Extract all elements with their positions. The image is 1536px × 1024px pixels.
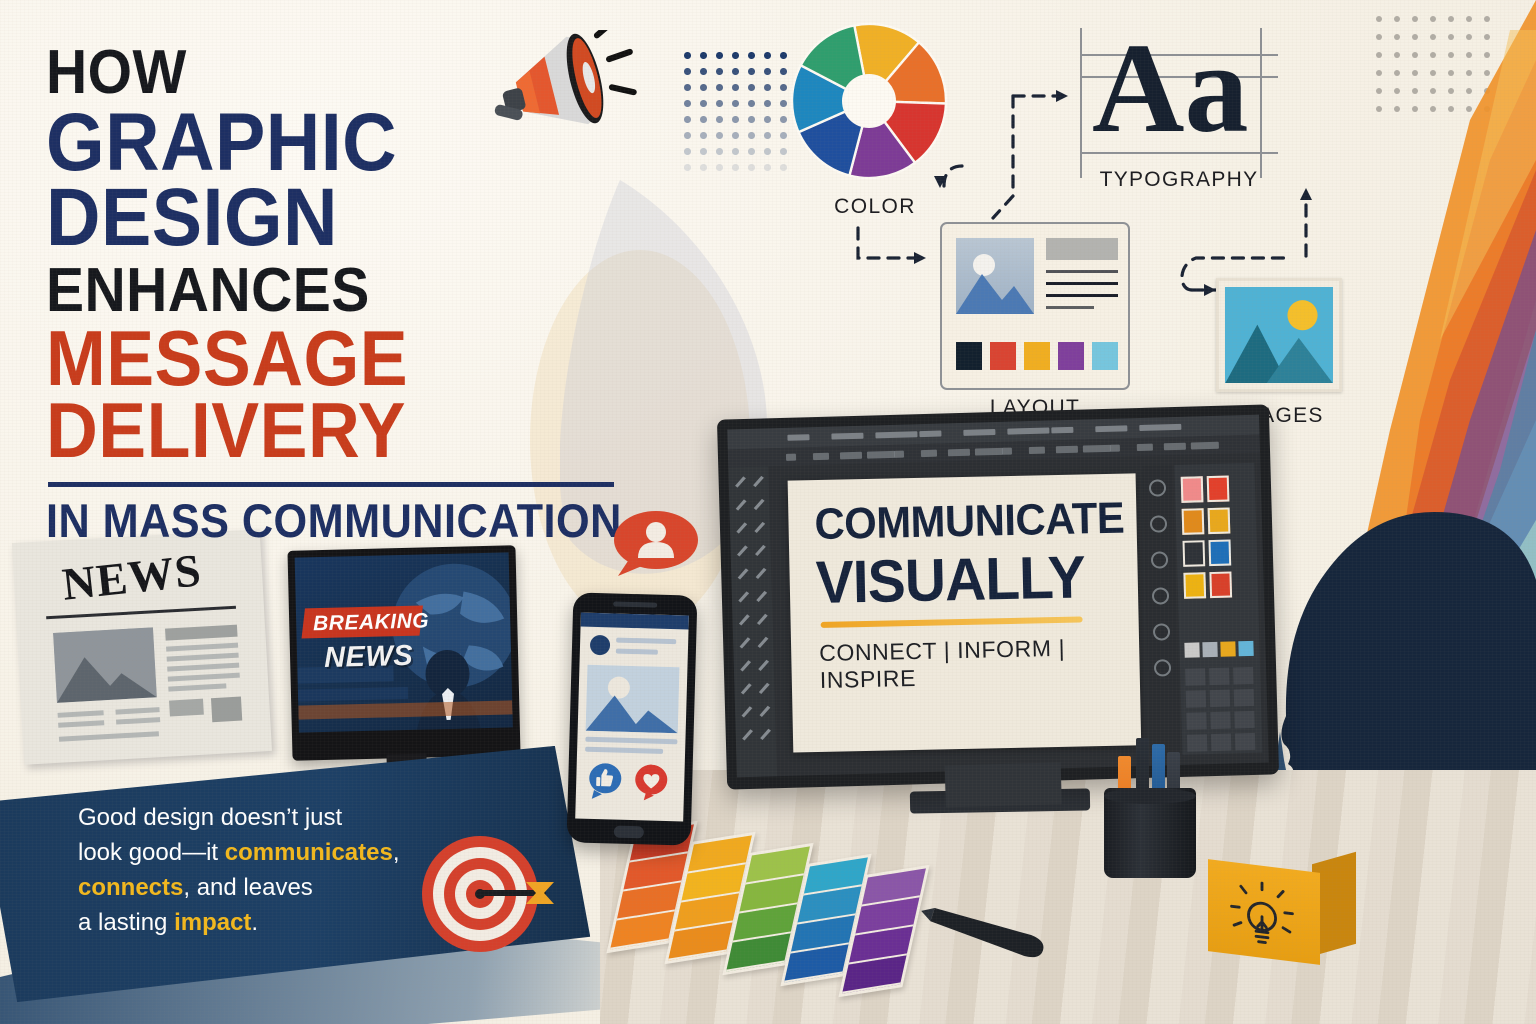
tool-button[interactable]	[753, 543, 766, 556]
panel-icon[interactable]	[1150, 515, 1167, 532]
decorative-dot	[732, 52, 739, 59]
tagline-segment: a lasting	[78, 909, 174, 936]
decorative-dot	[748, 84, 755, 91]
tool-button[interactable]	[753, 520, 766, 533]
option-control[interactable]	[786, 454, 796, 461]
panel-cell[interactable]	[1235, 733, 1255, 751]
tagline-segment: ,	[393, 839, 400, 866]
tool-button[interactable]	[735, 544, 748, 557]
decorative-dot	[732, 148, 739, 155]
decorative-dot	[780, 164, 787, 171]
desktop-monitor: COMMUNICATE VISUALLY CONNECT | INFORM | …	[717, 404, 1279, 789]
tv-breaking-banner: BREAKING	[302, 606, 423, 639]
image-frame-icon	[1216, 278, 1342, 392]
menu-item[interactable]	[919, 431, 941, 438]
menu-item[interactable]	[1139, 424, 1181, 431]
tool-button[interactable]	[738, 636, 751, 649]
user-speech-bubble-icon	[608, 508, 700, 580]
decorative-dot	[764, 116, 771, 123]
option-control[interactable]	[1029, 447, 1045, 454]
decorative-dot	[764, 68, 771, 75]
headline-line-4: MESSAGE DELIVERY	[46, 323, 672, 467]
option-control[interactable]	[1056, 446, 1078, 454]
panel-cell[interactable]	[1185, 668, 1205, 686]
decorative-dot	[780, 68, 787, 75]
infographic-poster: HOW GRAPHIC DESIGN ENHANCES MESSAGE DELI…	[0, 0, 1536, 1024]
panel-icon[interactable]	[1151, 551, 1168, 568]
decorative-dot	[732, 116, 739, 123]
decorative-dot	[764, 164, 771, 171]
tool-button[interactable]	[757, 681, 770, 694]
typography-label: TYPOGRAPHY	[1080, 168, 1278, 192]
tool-button[interactable]	[755, 589, 768, 602]
menu-item[interactable]	[831, 433, 863, 440]
tool-button[interactable]	[751, 474, 764, 487]
tool-button[interactable]	[739, 682, 752, 695]
panel-icon[interactable]	[1152, 587, 1169, 604]
small-swatch[interactable]	[1184, 642, 1199, 657]
decorative-dot	[764, 100, 771, 107]
menu-item[interactable]	[1095, 425, 1127, 432]
tv-news-label: NEWS	[324, 640, 414, 675]
menu-item[interactable]	[963, 429, 995, 436]
option-control[interactable]	[1137, 444, 1153, 451]
panel-cell[interactable]	[1234, 689, 1254, 707]
tagline-highlight: connects	[78, 874, 183, 901]
tool-button[interactable]	[755, 612, 768, 625]
small-swatch[interactable]	[1238, 641, 1253, 656]
menu-item[interactable]	[787, 434, 809, 441]
layout-thumbnail	[956, 238, 1034, 314]
phone-avatar	[590, 635, 611, 656]
menu-item[interactable]	[1007, 428, 1049, 435]
palette-swatch[interactable]	[1208, 539, 1231, 566]
decorative-dot	[748, 100, 755, 107]
tool-button[interactable]	[741, 728, 754, 741]
tool-button[interactable]	[739, 659, 752, 672]
palette-swatch[interactable]	[1183, 540, 1206, 567]
panel-cell[interactable]	[1209, 668, 1229, 686]
color-swatch-fan	[620, 828, 950, 968]
tagline-segment: Good design doesn’t just	[78, 804, 342, 831]
menu-item[interactable]	[1051, 427, 1073, 434]
app-swatch-panel[interactable]	[1174, 463, 1262, 755]
decorative-dot	[780, 132, 787, 139]
layout-card-icon	[940, 222, 1130, 390]
panel-cell[interactable]	[1186, 690, 1206, 708]
panel-cell[interactable]	[1210, 690, 1230, 708]
image-thumbnail	[1225, 287, 1333, 383]
decorative-dot	[732, 100, 739, 107]
tv-breaking-label: BREAKING	[313, 609, 430, 636]
option-control[interactable]	[1191, 442, 1219, 450]
megaphone-icon	[462, 30, 642, 160]
layout-swatch	[1092, 342, 1118, 370]
typography-element: Aa	[1080, 28, 1278, 178]
option-control[interactable]	[1164, 443, 1186, 451]
option-control[interactable]	[1083, 445, 1111, 453]
headline-line-5: IN MASS COMMUNICATION	[46, 499, 672, 542]
panel-cell[interactable]	[1234, 711, 1254, 729]
decorative-dot	[748, 164, 755, 171]
color-label: COLOR	[790, 195, 960, 219]
headline-line-3: ENHANCES	[46, 262, 672, 319]
small-swatch[interactable]	[1202, 642, 1217, 657]
tool-button[interactable]	[737, 613, 750, 626]
color-element: COLOR	[790, 22, 960, 219]
tool-button[interactable]	[758, 704, 771, 717]
tool-button[interactable]	[752, 497, 765, 510]
canvas-subline: CONNECT | INFORM | INSPIRE	[819, 633, 1140, 694]
decorative-dot	[780, 84, 787, 91]
smartphone-icon	[567, 592, 698, 845]
tool-button[interactable]	[734, 498, 747, 511]
tagline-segment: look good—it	[78, 839, 225, 866]
phone-post-image	[586, 665, 680, 734]
tool-button[interactable]	[736, 567, 749, 580]
television-icon: BREAKING NEWS	[287, 545, 520, 761]
decorative-dot	[748, 116, 755, 123]
decorative-dot	[764, 148, 771, 155]
decorative-dot	[780, 100, 787, 107]
decorative-dot	[732, 68, 739, 75]
palette-swatch[interactable]	[1207, 476, 1230, 503]
panel-cell[interactable]	[1186, 712, 1206, 730]
option-control[interactable]	[1002, 448, 1012, 455]
tool-button[interactable]	[733, 475, 746, 488]
option-control[interactable]	[1110, 445, 1120, 452]
tool-button[interactable]	[735, 521, 748, 534]
pencil-cup	[1104, 770, 1196, 878]
tool-button[interactable]	[759, 727, 772, 740]
phone-screen	[575, 613, 689, 822]
panel-cell[interactable]	[1233, 667, 1253, 685]
monitor-screen: COMMUNICATE VISUALLY CONNECT | INFORM | …	[727, 415, 1269, 778]
option-control[interactable]	[975, 448, 1003, 456]
palette-swatch[interactable]	[1181, 476, 1204, 503]
panel-icon[interactable]	[1154, 659, 1171, 676]
newspaper-icon: NEWS	[12, 529, 272, 764]
thumbs-up-icon	[588, 763, 623, 800]
tagline-highlight: impact	[174, 909, 251, 936]
tagline-text: Good design doesn’t justlook good—it com…	[78, 800, 448, 940]
tool-button[interactable]	[754, 566, 767, 579]
heart-icon	[634, 764, 669, 801]
decorative-dot	[748, 132, 755, 139]
option-control[interactable]	[948, 449, 970, 457]
small-swatch[interactable]	[1220, 641, 1235, 656]
color-wheel-center	[842, 74, 896, 128]
tool-button[interactable]	[737, 590, 750, 603]
decorative-dot	[780, 148, 787, 155]
palette-swatch[interactable]	[1183, 572, 1206, 599]
panel-cell[interactable]	[1211, 734, 1231, 752]
tool-button[interactable]	[756, 635, 769, 648]
panel-cell[interactable]	[1187, 734, 1207, 752]
decorative-dot	[780, 52, 787, 59]
menu-item[interactable]	[875, 431, 917, 438]
sticky-note	[1208, 852, 1356, 958]
layout-swatch	[1058, 342, 1084, 370]
option-control[interactable]	[921, 450, 937, 457]
decorative-dot	[732, 132, 739, 139]
decorative-dot	[748, 148, 755, 155]
decorative-dot	[780, 116, 787, 123]
headline-divider	[48, 482, 614, 487]
palette-swatch[interactable]	[1208, 507, 1231, 534]
canvas-underline	[821, 616, 1083, 627]
decorative-dot	[748, 52, 755, 59]
decorative-dot	[764, 132, 771, 139]
color-wheel-icon	[790, 22, 948, 180]
option-control[interactable]	[894, 451, 904, 458]
panel-icon[interactable]	[1153, 623, 1170, 640]
lightbulb-icon	[1224, 877, 1300, 956]
layout-swatch	[1024, 342, 1050, 370]
option-control[interactable]	[867, 451, 895, 459]
tool-button[interactable]	[740, 705, 753, 718]
decorative-dot	[748, 68, 755, 75]
decorative-dot	[732, 164, 739, 171]
decorative-dot	[764, 84, 771, 91]
palette-swatch[interactable]	[1209, 571, 1232, 598]
tagline-segment: .	[251, 909, 258, 936]
app-tool-palette[interactable]	[728, 466, 777, 777]
panel-cell[interactable]	[1210, 712, 1230, 730]
tagline-segment: , and leaves	[183, 874, 312, 901]
typography-sample: Aa	[1092, 24, 1248, 152]
palette-swatch[interactable]	[1182, 508, 1205, 535]
decorative-dot	[764, 52, 771, 59]
panel-icon[interactable]	[1149, 479, 1166, 496]
decorative-dot	[732, 84, 739, 91]
tagline-highlight: communicates	[225, 839, 393, 866]
tool-button[interactable]	[757, 658, 770, 671]
layout-swatch	[956, 342, 982, 370]
app-canvas[interactable]: COMMUNICATE VISUALLY CONNECT | INFORM | …	[788, 473, 1142, 752]
layout-swatch	[990, 342, 1016, 370]
option-control[interactable]	[813, 453, 829, 460]
option-control[interactable]	[840, 452, 862, 460]
canvas-headline-2: VISUALLY	[815, 542, 1085, 617]
